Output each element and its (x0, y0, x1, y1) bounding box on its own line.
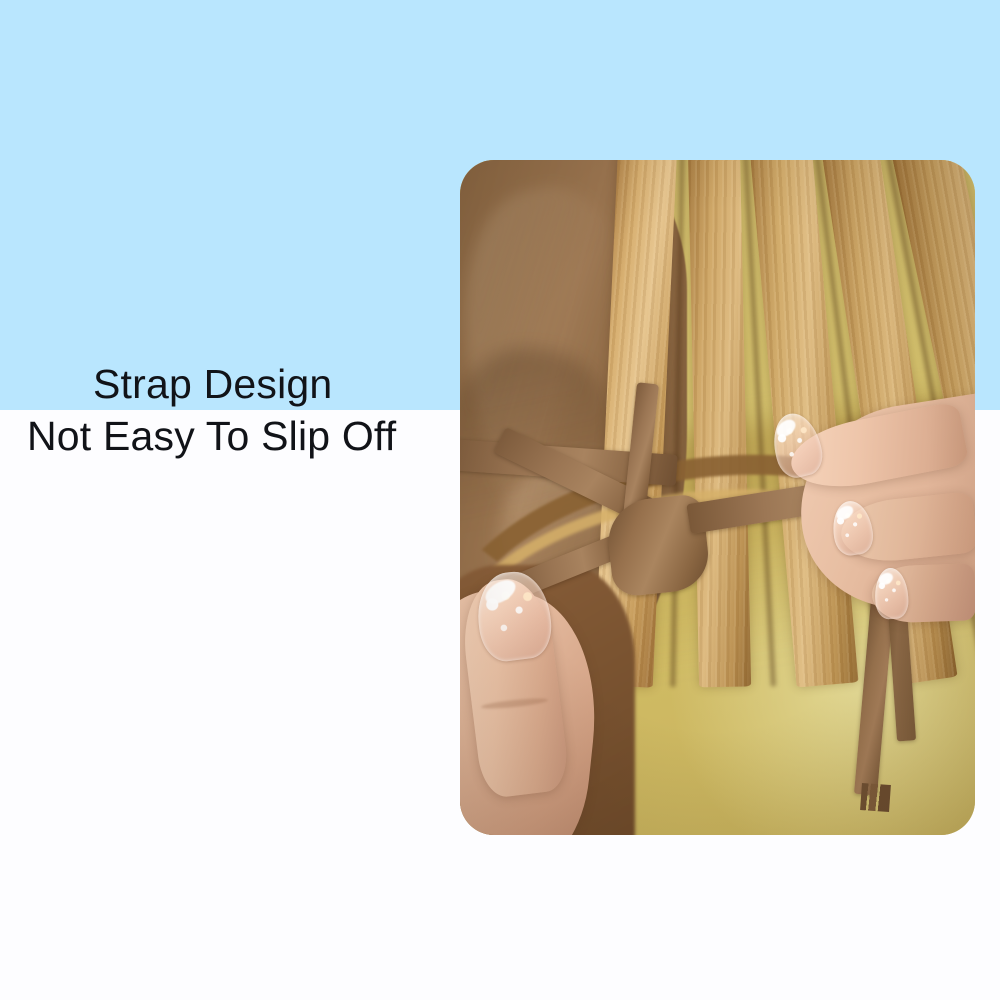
product-photo-card (460, 160, 975, 835)
headline-line-1: Strap Design (0, 358, 460, 410)
fingernail-left-thumb (473, 568, 555, 664)
fingernail-right-ring (873, 568, 909, 620)
strap-frayed-end (860, 783, 891, 812)
headline-block: Strap Design Not Easy To Slip Off (0, 358, 460, 468)
nail-glitter (830, 498, 876, 557)
product-feature-banner: Strap Design Not Easy To Slip Off (0, 0, 1000, 1000)
product-photo (460, 160, 975, 835)
headline-line-2: Not Easy To Slip Off (0, 410, 460, 462)
fingernail-right-middle (830, 498, 876, 557)
